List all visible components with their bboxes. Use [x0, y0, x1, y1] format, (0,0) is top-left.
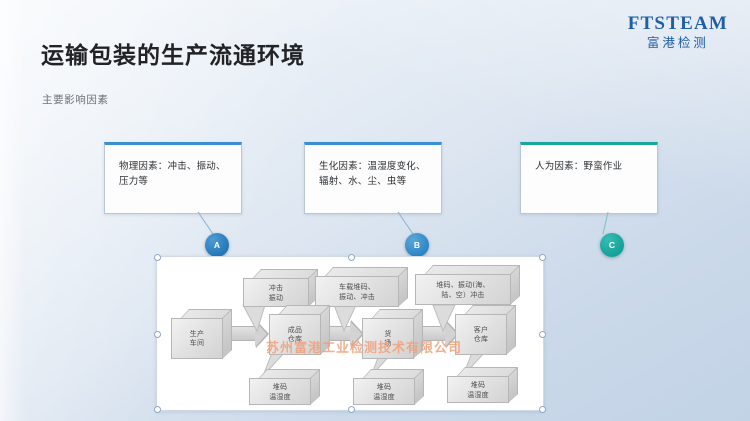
note-line-2: 振动、冲击 [339, 292, 375, 302]
note-cube-lower-3-label: 堆码 温湿度 [447, 376, 509, 403]
background-left-edge [0, 0, 26, 421]
node-line-2: 仓库 [288, 335, 302, 344]
note-line-2: 振动 [269, 293, 283, 303]
note-cube-lower-1-label: 堆码 温湿度 [249, 378, 311, 405]
note-cube-lower-1: 堆码 温湿度 [249, 369, 311, 405]
page-subtitle: 主要影响因素 [42, 92, 109, 107]
company-logo: FTSTEAM 富港检测 [628, 14, 728, 50]
node-line-1: 生产 [190, 330, 204, 339]
selection-handle-middle-right[interactable] [539, 331, 546, 338]
node-line-2: 场 [384, 339, 391, 348]
chain-node-customer-warehouse: 客户 仓库 [455, 305, 507, 355]
cube-side-face [222, 309, 232, 359]
cube-side-face [506, 305, 516, 355]
note-line-1: 堆码 [471, 380, 485, 390]
factor-badge-c[interactable]: C [600, 233, 624, 257]
note-line-2: 温湿度 [269, 392, 291, 402]
cube-side-face [510, 265, 520, 305]
note-cube-upper-3: 堆码、振动(海、 陆、空）冲击 [415, 265, 511, 305]
note-line-1: 堆码、振动(海、 [436, 280, 489, 290]
chain-node-production-workshop: 生产 车间 [171, 309, 223, 359]
note-cube-lower-3: 堆码 温湿度 [447, 367, 509, 403]
callout-pointer-upper-2 [330, 305, 364, 333]
note-cube-lower-2-label: 堆码 温湿度 [353, 378, 415, 405]
note-line-1: 车载堆码、 [339, 282, 375, 292]
flow-diagram-canvas: 冲击 振动 车载堆码、 振动、冲击 堆码、振动(海、 陆、空 [157, 257, 543, 410]
note-line-1: 堆码 [377, 382, 391, 392]
node-line-2: 仓库 [474, 335, 488, 344]
chain-node-finished-goods-warehouse: 成品 仓库 [269, 305, 321, 355]
slide: FTSTEAM 富港检测 运输包装的生产流通环境 主要影响因素 物理因素：冲击、… [0, 0, 750, 421]
factor-card-b[interactable]: 生化因素：温湿度变化、辐射、水、尘、虫等 [304, 142, 442, 214]
note-line-2: 温湿度 [373, 392, 395, 402]
factor-card-c[interactable]: 人为因素：野蛮作业 [520, 142, 658, 214]
note-cube-upper-1-label: 冲击 振动 [243, 278, 309, 307]
node-line-1: 客户 [474, 326, 488, 335]
selection-handle-top-left[interactable] [154, 254, 161, 261]
note-cube-upper-2: 车载堆码、 振动、冲击 [315, 267, 399, 307]
note-cube-upper-2-label: 车载堆码、 振动、冲击 [315, 276, 399, 307]
factor-badge-a[interactable]: A [205, 233, 229, 257]
note-line-1: 堆码 [273, 382, 287, 392]
logo-wordmark: FTSTEAM [628, 14, 728, 33]
cube-side-face [398, 267, 408, 307]
note-cube-lower-2: 堆码 温湿度 [353, 369, 415, 405]
node-line-1: 成品 [288, 326, 302, 335]
chain-node-finished-goods-warehouse-label: 成品 仓库 [269, 314, 321, 355]
chain-node-freight-yard: 货 场 [362, 309, 414, 359]
factor-card-b-text: 生化因素：温湿度变化、辐射、水、尘、虫等 [319, 159, 431, 189]
factor-badge-b[interactable]: B [405, 233, 429, 257]
note-line-2: 陆、空）冲击 [441, 290, 484, 300]
cube-side-face [320, 305, 330, 355]
note-line-1: 冲击 [269, 283, 283, 293]
selection-handle-top-center[interactable] [348, 254, 355, 261]
flow-diagram-image[interactable]: 冲击 振动 车载堆码、 振动、冲击 堆码、振动(海、 陆、空 [156, 256, 544, 411]
chain-node-freight-yard-label: 货 场 [362, 318, 414, 359]
chain-node-customer-warehouse-label: 客户 仓库 [455, 314, 507, 355]
note-line-2: 温湿度 [467, 390, 489, 400]
factor-card-c-text: 人为因素：野蛮作业 [535, 159, 647, 174]
selection-handle-bottom-right[interactable] [539, 406, 546, 413]
selection-handle-middle-left[interactable] [154, 331, 161, 338]
note-cube-upper-1: 冲击 振动 [243, 269, 309, 307]
chain-node-production-workshop-label: 生产 车间 [171, 318, 223, 359]
factor-card-a[interactable]: 物理因素：冲击、振动、压力等 [104, 142, 242, 214]
node-line-1: 货 [384, 330, 391, 339]
factor-card-a-text: 物理因素：冲击、振动、压力等 [119, 159, 231, 189]
cube-side-face [413, 309, 423, 359]
logo-chinese-name: 富港检测 [628, 37, 728, 50]
selection-handle-bottom-center[interactable] [348, 406, 355, 413]
selection-handle-top-right[interactable] [539, 254, 546, 261]
selection-handle-bottom-left[interactable] [154, 406, 161, 413]
page-title: 运输包装的生产流通环境 [41, 36, 305, 70]
note-cube-upper-3-label: 堆码、振动(海、 陆、空）冲击 [415, 274, 511, 305]
node-line-2: 车间 [190, 339, 204, 348]
